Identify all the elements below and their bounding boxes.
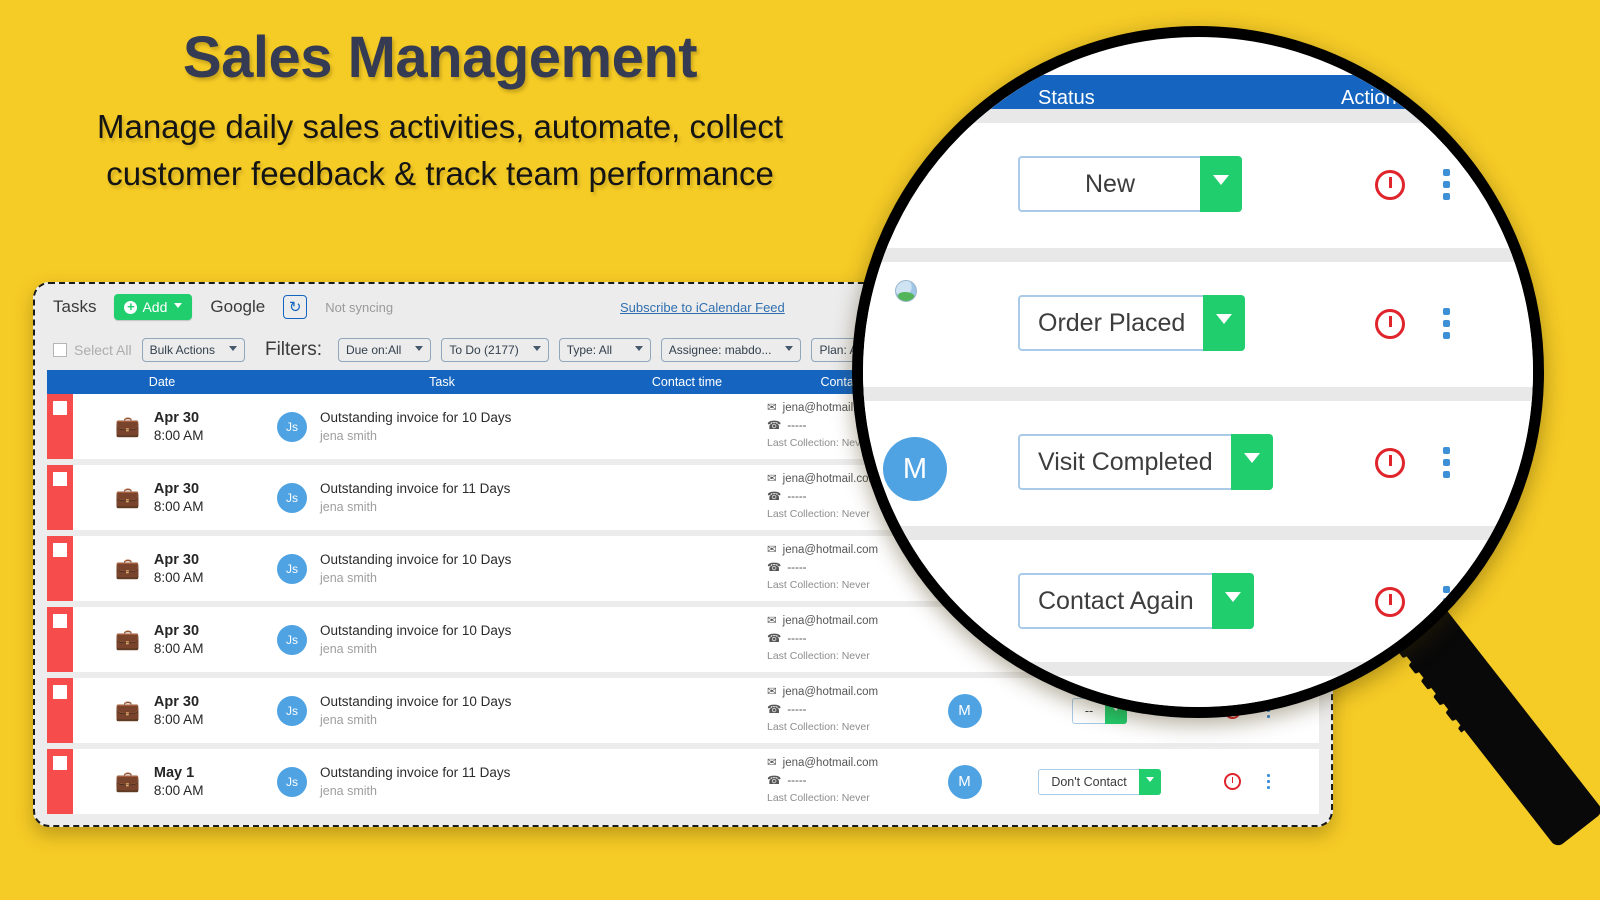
row-last-collection: Last Collection: Never (767, 508, 870, 520)
table-row[interactable]: 💼May 18:00 AMJsOutstanding invoice for 1… (47, 749, 1319, 814)
phone-icon: ☎ (767, 489, 781, 507)
filter-label: Due on:All (346, 343, 401, 357)
row-phone: ----- (787, 702, 806, 720)
google-label: Google (210, 297, 265, 317)
sync-status-text: Not syncing (325, 300, 393, 315)
row-select-marker[interactable] (47, 536, 73, 601)
row-time: 8:00 AM (154, 499, 204, 514)
row-separator (863, 387, 1544, 401)
clock-icon[interactable] (1224, 773, 1241, 790)
briefcase-icon: 💼 (115, 488, 140, 508)
row-task: Outstanding invoice for 11 Days (320, 481, 510, 496)
row-checkbox[interactable] (53, 472, 67, 486)
magnifier-lens: Status Actions NewOrder PlacedVisit Comp… (852, 26, 1544, 718)
cell-task: JsOutstanding invoice for 11 Daysjena sm… (277, 764, 607, 800)
row-date: Apr 30 (154, 552, 199, 568)
row-select-marker[interactable] (47, 465, 73, 530)
magnified-table-row[interactable]: New (863, 123, 1544, 248)
row-email: jena@hotmail.com (783, 755, 878, 773)
row-time: 8:00 AM (154, 641, 204, 656)
avatar: Js (277, 696, 307, 726)
cell-date: 💼Apr 308:00 AM (73, 409, 277, 445)
status-dropdown-arrow[interactable] (1203, 295, 1245, 351)
add-button[interactable]: + Add (114, 294, 192, 320)
cell-date: 💼Apr 308:00 AM (73, 622, 277, 658)
status-value: Visit Completed (1018, 434, 1231, 490)
more-options-icon[interactable] (1443, 169, 1450, 200)
clock-icon[interactable] (1375, 587, 1405, 617)
subscribe-icalendar-link[interactable]: Subscribe to iCalendar Feed (620, 300, 785, 315)
row-checkbox[interactable] (53, 543, 67, 557)
filter-type[interactable]: Type: All (559, 338, 651, 362)
filter-label: Assignee: mabdo... (669, 343, 772, 357)
page-subtitle: Manage daily sales activities, automate,… (0, 104, 880, 198)
row-date: Apr 30 (154, 410, 199, 426)
cell-task: JsOutstanding invoice for 10 Daysjena sm… (277, 622, 607, 658)
mail-icon: ✉ (767, 400, 777, 418)
row-phone: ----- (787, 631, 806, 649)
briefcase-icon: 💼 (115, 417, 140, 437)
row-separator (863, 526, 1544, 540)
row-person: jena smith (320, 642, 377, 656)
status-dropdown[interactable]: Contact Again (1018, 573, 1254, 629)
phone-icon: ☎ (767, 631, 781, 649)
phone-icon: ☎ (767, 560, 781, 578)
mail-icon: ✉ (767, 471, 777, 489)
row-time: 8:00 AM (154, 783, 204, 798)
row-phone: ----- (787, 418, 806, 436)
chevron-down-icon (785, 346, 793, 355)
cell-task: JsOutstanding invoice for 11 Daysjena sm… (277, 480, 607, 516)
bulk-actions-dropdown[interactable]: Bulk Actions (142, 338, 245, 362)
cell-date: 💼May 18:00 AM (73, 764, 277, 800)
row-person: jena smith (320, 500, 377, 514)
clock-icon[interactable] (1375, 170, 1405, 200)
mail-icon: ✉ (767, 542, 777, 560)
row-time: 8:00 AM (154, 428, 204, 443)
row-last-collection: Last Collection: Never (767, 792, 870, 804)
add-button-label: Add (142, 299, 167, 315)
status-dropdown-arrow[interactable] (1231, 434, 1273, 490)
filter-to-do[interactable]: To Do (2177) (441, 338, 548, 362)
more-options-icon[interactable] (1443, 447, 1450, 478)
row-select-marker[interactable] (47, 678, 73, 743)
column-header-date: Date (47, 375, 277, 389)
plus-icon: + (124, 301, 137, 314)
row-person: jena smith (320, 713, 377, 727)
row-last-collection: Last Collection: Never (767, 721, 870, 733)
row-last-collection: Last Collection: Never (767, 650, 870, 662)
magnified-table-row[interactable]: Contact AgainM (863, 540, 1544, 665)
status-dropdown[interactable]: Don't Contact (1038, 769, 1160, 795)
avatar: Js (277, 554, 307, 584)
row-checkbox[interactable] (53, 401, 67, 415)
cell-actions (1187, 773, 1307, 790)
filter-label: Type: All (567, 343, 612, 357)
mail-icon: ✉ (767, 613, 777, 631)
avatar: M (883, 437, 947, 501)
briefcase-icon: 💼 (115, 701, 140, 721)
row-select-marker[interactable] (47, 394, 73, 459)
more-options-icon[interactable] (1267, 774, 1271, 790)
clock-icon[interactable] (1375, 309, 1405, 339)
row-person: jena smith (320, 429, 377, 443)
row-task: Outstanding invoice for 10 Days (320, 694, 511, 709)
filter-assignee[interactable]: Assignee: mabdo... (661, 338, 802, 362)
status-value: Contact Again (1018, 573, 1212, 629)
chevron-down-icon (635, 346, 643, 355)
avatar: Js (277, 412, 307, 442)
globe-icon (895, 280, 917, 302)
row-date: Apr 30 (154, 481, 199, 497)
tasks-label: Tasks (53, 297, 96, 317)
hero-section: Sales Management Manage daily sales acti… (0, 26, 880, 198)
status-value: Order Placed (1018, 295, 1203, 351)
status-value: New (1018, 156, 1200, 212)
cell-task: JsOutstanding invoice for 10 Daysjena sm… (277, 551, 607, 587)
chevron-down-icon (174, 303, 182, 312)
row-last-collection: Last Collection: Never (767, 437, 870, 449)
status-dropdown-arrow[interactable] (1212, 573, 1254, 629)
row-checkbox[interactable] (53, 756, 67, 770)
magnified-table-row[interactable]: Visit CompletedM (863, 401, 1544, 526)
cell-task: JsOutstanding invoice for 10 Daysjena sm… (277, 409, 607, 445)
row-date: May 1 (154, 765, 194, 781)
avatar: Js (277, 483, 307, 513)
cell-owner-avatar: M (917, 765, 1012, 799)
row-checkbox[interactable] (53, 685, 67, 699)
avatar: M (883, 576, 947, 640)
row-person: jena smith (320, 784, 377, 798)
row-phone: ----- (787, 560, 806, 578)
status-dropdown[interactable]: New (1018, 156, 1242, 212)
briefcase-icon: 💼 (115, 772, 140, 792)
row-phone: ----- (787, 773, 806, 791)
row-task: Outstanding invoice for 11 Days (320, 765, 510, 780)
sync-refresh-icon[interactable]: ↻ (283, 295, 307, 319)
row-time: 8:00 AM (154, 712, 204, 727)
avatar: Js (277, 767, 307, 797)
cell-task: JsOutstanding invoice for 10 Daysjena sm… (277, 693, 607, 729)
more-options-icon[interactable] (1443, 586, 1450, 617)
row-select-marker[interactable] (47, 607, 73, 672)
cell-date: 💼Apr 308:00 AM (73, 693, 277, 729)
row-task: Outstanding invoice for 10 Days (320, 410, 511, 425)
magnified-table-row[interactable]: Order Placed (863, 262, 1544, 387)
phone-icon: ☎ (767, 773, 781, 791)
column-header-contact-time: Contact time (607, 375, 767, 389)
briefcase-icon: 💼 (115, 559, 140, 579)
row-separator (863, 662, 1544, 676)
row-select-marker[interactable] (47, 749, 73, 814)
row-checkbox[interactable] (53, 614, 67, 628)
page-title: Sales Management (0, 26, 880, 90)
phone-icon: ☎ (767, 702, 781, 720)
chevron-down-icon (533, 346, 541, 355)
select-all-checkbox[interactable] (53, 343, 67, 357)
column-header-status: Status (1038, 87, 1095, 110)
filters-label: Filters: (265, 339, 322, 361)
mail-icon: ✉ (767, 684, 777, 702)
select-all-control[interactable]: Select All (53, 342, 132, 358)
phone-icon: ☎ (767, 418, 781, 436)
row-date: Apr 30 (154, 694, 199, 710)
poster-canvas: Sales Management Manage daily sales acti… (0, 0, 1600, 900)
status-dropdown-arrow[interactable] (1200, 156, 1242, 212)
clock-icon[interactable] (1375, 448, 1405, 478)
row-task: Outstanding invoice for 10 Days (320, 623, 511, 638)
row-last-collection: Last Collection: Never (767, 579, 870, 591)
more-options-icon[interactable] (1443, 308, 1450, 339)
row-person: jena smith (320, 571, 377, 585)
cell-contact: ✉jena@hotmail.com☎-----Last Collection: … (767, 755, 917, 808)
row-separator (863, 109, 1544, 123)
briefcase-icon: 💼 (115, 630, 140, 650)
status-dropdown-arrow[interactable] (1139, 769, 1161, 795)
avatar: Js (277, 625, 307, 655)
column-header-task: Task (277, 375, 607, 389)
cell-status[interactable]: Don't Contact (1012, 769, 1187, 795)
status-dropdown[interactable]: Order Placed (1018, 295, 1245, 351)
chevron-down-icon (415, 346, 423, 355)
row-phone: ----- (787, 489, 806, 507)
avatar: M (948, 765, 982, 799)
filter-due-on[interactable]: Due on:All (338, 338, 431, 362)
chevron-down-icon (229, 346, 237, 355)
column-header-actions: Actions (1341, 87, 1407, 110)
filter-label: To Do (2177) (449, 343, 518, 357)
bulk-actions-label: Bulk Actions (150, 343, 215, 357)
status-dropdown[interactable]: Visit Completed (1018, 434, 1273, 490)
cell-date: 💼Apr 308:00 AM (73, 551, 277, 587)
status-value: Don't Contact (1038, 769, 1138, 795)
row-separator (863, 248, 1544, 262)
select-all-label: Select All (74, 342, 132, 358)
mail-icon: ✉ (767, 755, 777, 773)
row-time: 8:00 AM (154, 570, 204, 585)
row-task: Outstanding invoice for 10 Days (320, 552, 511, 567)
row-date: Apr 30 (154, 623, 199, 639)
cell-date: 💼Apr 308:00 AM (73, 480, 277, 516)
